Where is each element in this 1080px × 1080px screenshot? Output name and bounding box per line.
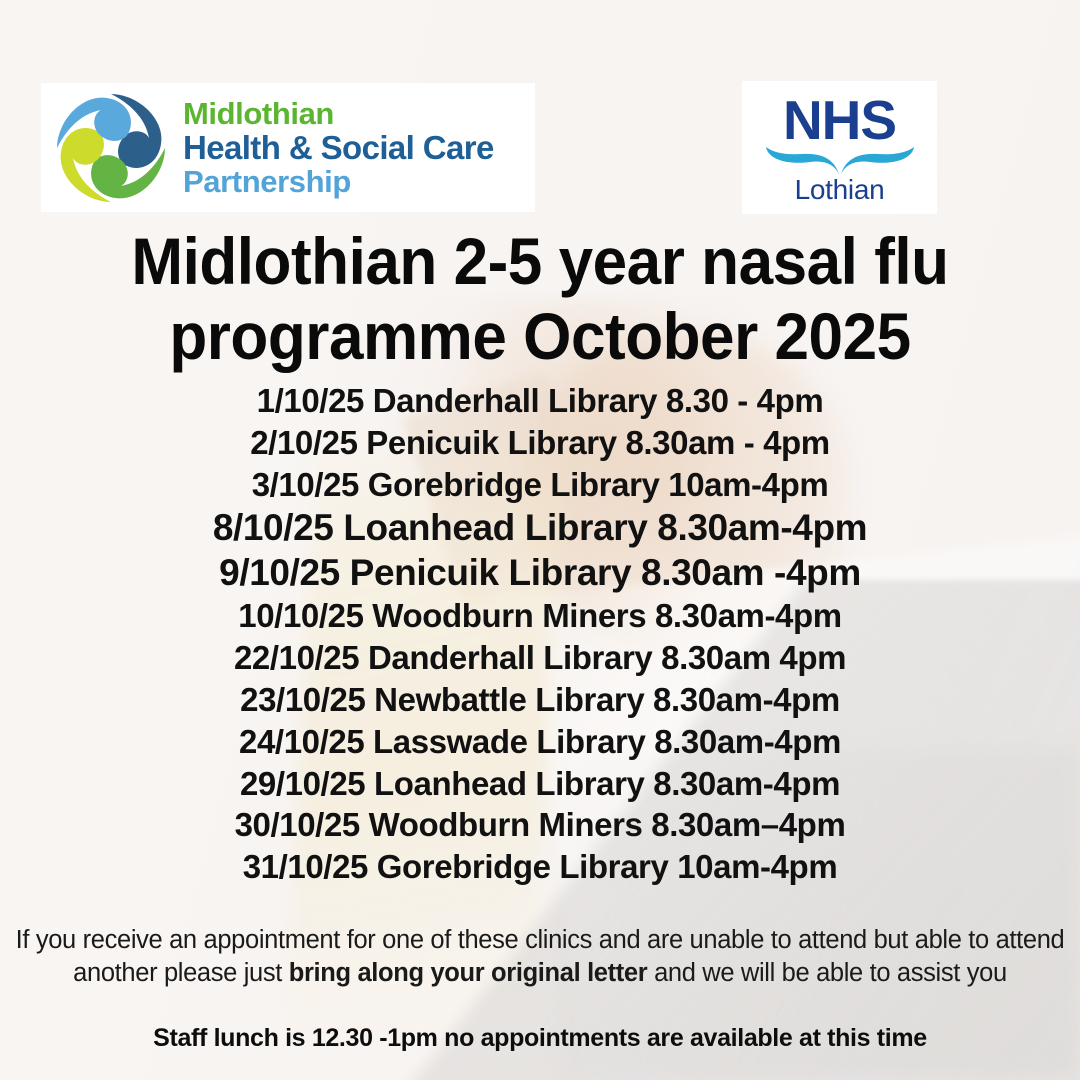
nhs-lothian-logo: NHS Lothian [742,81,937,214]
nhs-letters: NHS [783,93,896,148]
clinic-line: 3/10/25 Gorebridge Library 10am-4pm [0,464,1080,506]
clinic-line: 1/10/25 Danderhall Library 8.30 - 4pm [0,380,1080,422]
clinic-line: 24/10/25 Lasswade Library 8.30am-4pm [0,721,1080,763]
nhs-wave-icon [762,145,918,175]
page-title: Midlothian 2-5 year nasal flu programme … [32,224,1047,374]
partnership-line-health-social-care: Health & Social Care [183,131,494,164]
clinic-line: 9/10/25 Penicuik Library 8.30am -4pm [0,550,1080,595]
clinic-line: 30/10/25 Woodburn Miners 8.30am–4pm [0,804,1080,846]
clinic-line: 2/10/25 Penicuik Library 8.30am - 4pm [0,422,1080,464]
page-title-line-2: programme October 2025 [32,299,1047,374]
clinic-line: 23/10/25 Newbattle Library 8.30am-4pm [0,679,1080,721]
nhs-region-label: Lothian [795,176,885,204]
poster-content: Midlothian Health & Social Care Partners… [0,0,1080,1080]
clinic-line: 8/10/25 Loanhead Library 8.30am-4pm [0,505,1080,550]
clinic-line: 10/10/25 Woodburn Miners 8.30am-4pm [0,595,1080,637]
clinic-line: 29/10/25 Loanhead Library 8.30am-4pm [0,763,1080,805]
appointment-note-emphasis: bring along your original letter [289,959,648,987]
partnership-swirl-icon [49,86,173,210]
staff-lunch-notice: Staff lunch is 12.30 -1pm no appointment… [0,1022,1080,1054]
partnership-wordmark: Midlothian Health & Social Care Partners… [183,98,494,197]
partnership-line-partnership: Partnership [183,166,494,197]
clinic-line: 31/10/25 Gorebridge Library 10am-4pm [0,846,1080,888]
logo-row: Midlothian Health & Social Care Partners… [0,83,1080,215]
clinic-line: 22/10/25 Danderhall Library 8.30am 4pm [0,637,1080,679]
page-title-line-1: Midlothian 2-5 year nasal flu [32,224,1047,299]
appointment-note-part-2: and we will be able to assist you [647,959,1006,987]
flu-clinic-poster: Midlothian Health & Social Care Partners… [0,0,1080,1080]
midlothian-health-social-care-partnership-logo: Midlothian Health & Social Care Partners… [41,83,535,212]
partnership-line-midlothian: Midlothian [183,98,494,129]
appointment-note: If you receive an appointment for one of… [0,924,1080,990]
clinic-schedule-list: 1/10/25 Danderhall Library 8.30 - 4pm2/1… [0,380,1080,888]
